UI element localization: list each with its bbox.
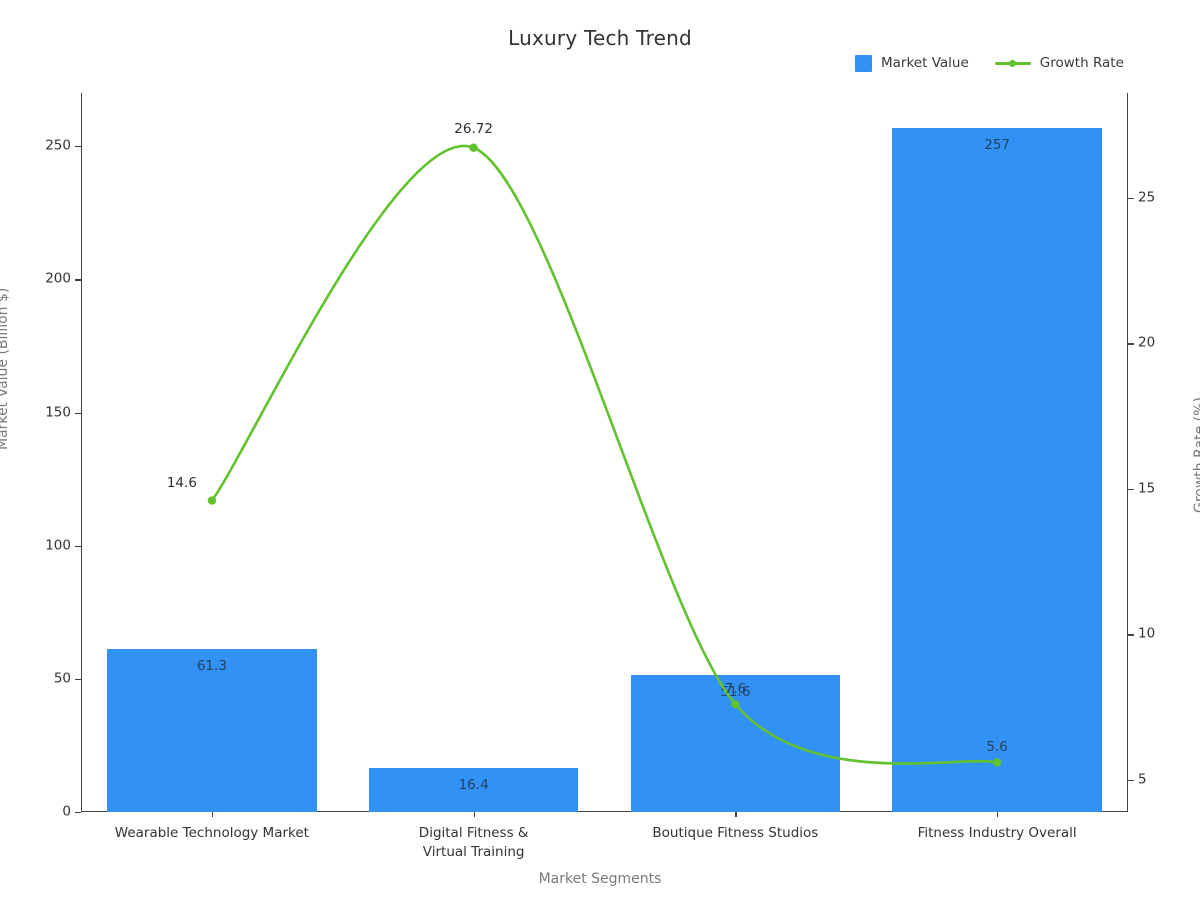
x-category-label: Fitness Industry Overall — [918, 824, 1077, 843]
line-marker[interactable] — [208, 496, 216, 504]
x-axis-title: Market Segments — [0, 871, 1200, 887]
x-tick — [474, 812, 475, 817]
axis-spine-right — [1127, 93, 1128, 812]
x-tick — [735, 812, 736, 817]
y-ticklabel-left: 50 — [54, 672, 71, 686]
y-tick-right — [1128, 634, 1134, 635]
legend-line-swatch-icon — [995, 57, 1031, 69]
legend-item-market-value[interactable]: Market Value — [855, 55, 969, 72]
chart-title: Luxury Tech Trend — [0, 26, 1200, 50]
y-tick-left — [75, 279, 81, 280]
bar-value-label: 61.3 — [197, 658, 227, 674]
y-ticklabel-left: 200 — [45, 273, 71, 287]
y-tick-left — [75, 546, 81, 547]
x-tick — [997, 812, 998, 817]
y-tick-left — [75, 413, 81, 414]
y-ticklabel-left: 250 — [45, 140, 71, 154]
y-ticklabel-right: 25 — [1138, 191, 1155, 205]
line-value-label: 26.72 — [454, 121, 493, 137]
legend-label-growth-rate: Growth Rate — [1040, 55, 1124, 71]
line-value-label: 7.6 — [725, 681, 746, 697]
y-tick-left — [75, 812, 81, 813]
y-tick-left — [75, 679, 81, 680]
x-category-label: Digital Fitness & Virtual Training — [419, 824, 529, 862]
plot-area: 050100150200250 510152025 61.316.451.625… — [81, 93, 1128, 812]
y-ticklabel-right: 15 — [1138, 482, 1155, 496]
y-ticklabel-right: 5 — [1138, 773, 1147, 787]
line-value-label: 5.6 — [986, 739, 1007, 755]
bar[interactable] — [892, 128, 1101, 812]
x-category-label: Boutique Fitness Studios — [652, 824, 818, 843]
legend-bar-swatch-icon — [855, 55, 872, 72]
chart-page: Luxury Tech Trend Market Value Growth Ra… — [0, 0, 1200, 900]
axis-spine-left — [81, 93, 82, 812]
y-ticklabel-left: 100 — [45, 539, 71, 553]
y-ticklabel-left: 150 — [45, 406, 71, 420]
y-tick-left — [75, 146, 81, 147]
bar-value-label: 16.4 — [459, 777, 489, 793]
y-axis-right-title: Growth Rate (%) — [1192, 397, 1200, 513]
y-axis-left-title: Market Value (Billion $) — [0, 288, 11, 450]
legend-label-market-value: Market Value — [881, 55, 969, 71]
y-tick-right — [1128, 489, 1134, 490]
growth-rate-line — [212, 146, 997, 764]
y-tick-right — [1128, 780, 1134, 781]
y-ticklabel-left: 0 — [62, 805, 71, 819]
y-tick-right — [1128, 343, 1134, 344]
line-marker[interactable] — [469, 144, 477, 152]
y-ticklabel-right: 10 — [1138, 628, 1155, 642]
chart-legend: Market Value Growth Rate — [855, 52, 1124, 74]
bar-value-label: 257 — [984, 137, 1010, 153]
growth-rate-markers — [208, 144, 1002, 767]
y-tick-right — [1128, 198, 1134, 199]
line-value-label: 14.6 — [167, 475, 197, 491]
legend-item-growth-rate[interactable]: Growth Rate — [995, 55, 1124, 71]
x-category-label: Wearable Technology Market — [115, 824, 309, 843]
y-ticklabel-right: 20 — [1138, 337, 1155, 351]
x-tick — [212, 812, 213, 817]
